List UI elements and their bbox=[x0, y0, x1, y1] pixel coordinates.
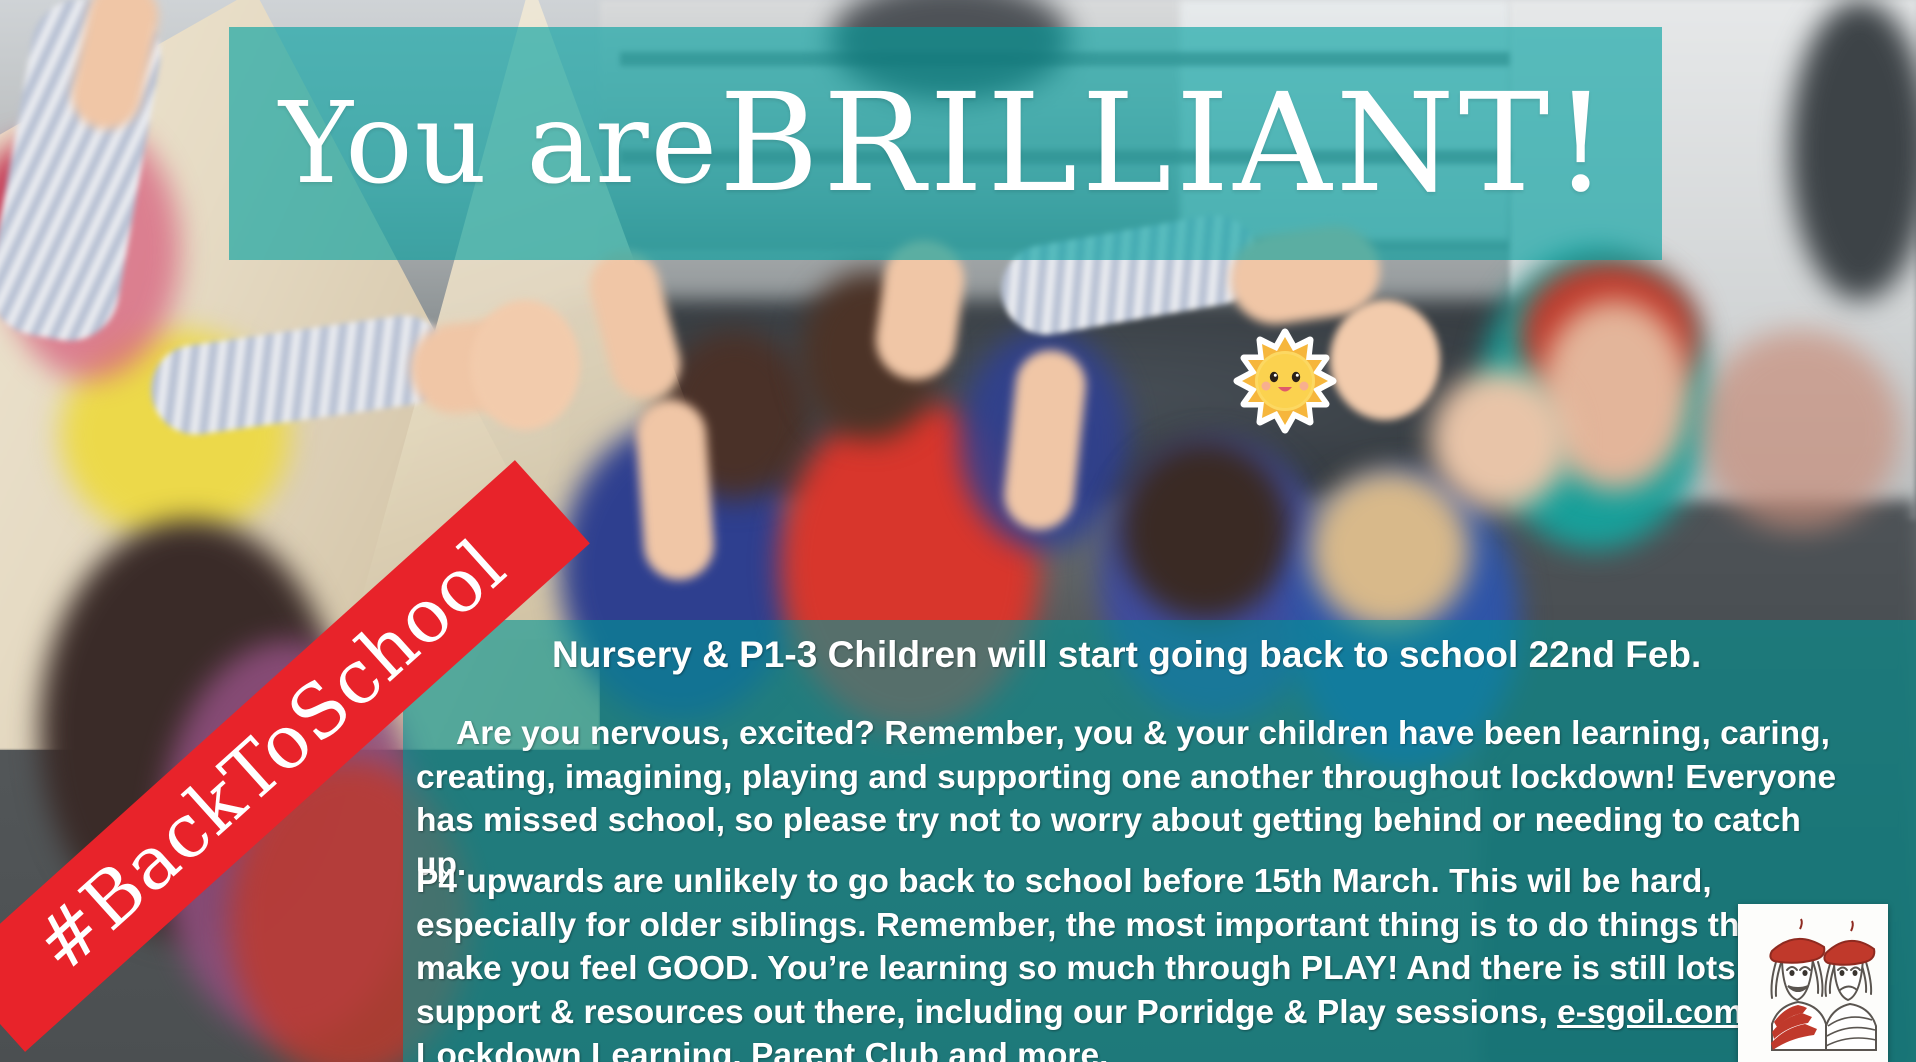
paragraph-two: P4 upwards are unlikely to go back to sc… bbox=[416, 860, 1846, 1062]
lead-text: Nursery & P1-3 Children will start going… bbox=[552, 634, 1882, 675]
page-title-part1: You are bbox=[279, 79, 719, 209]
organisation-logo bbox=[1738, 904, 1888, 1062]
page-title-part2: BRILLIANT! bbox=[719, 65, 1612, 223]
sun-icon bbox=[1232, 328, 1338, 434]
e-sgoil-link[interactable]: e-sgoil.com bbox=[1557, 994, 1743, 1031]
poster-canvas: You are BRILLIANT! Nursery & P1-3 Childr… bbox=[0, 0, 1916, 1062]
page-title: You are BRILLIANT! bbox=[229, 27, 1662, 260]
